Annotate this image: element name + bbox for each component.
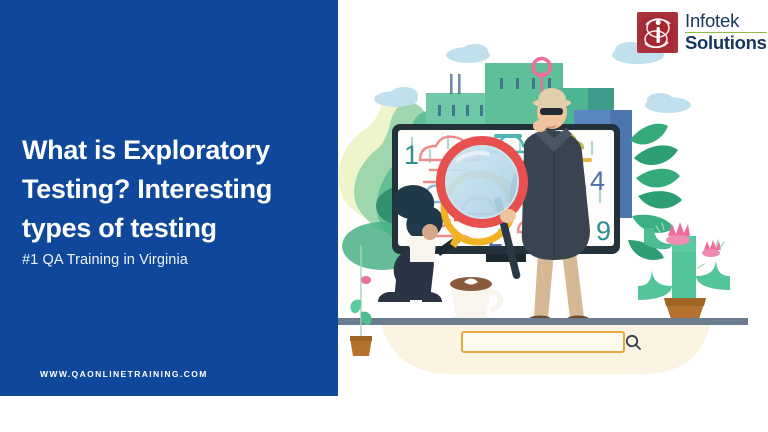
page-title: What is Exploratory Testing? Interesting… [22, 131, 322, 248]
infotek-swirl-i-icon [637, 12, 678, 53]
site-url: WWW.QAONLINETRAINING.COM [40, 369, 208, 379]
search-bar[interactable] [462, 332, 640, 352]
platform-bar [338, 318, 748, 325]
logo-wordmark: Infotek Solutions [685, 12, 767, 52]
page-subtitle: #1 QA Training in Virginia [22, 252, 322, 268]
screen-number: 9 [596, 216, 611, 246]
logo-line-2: Solutions [685, 33, 767, 53]
logo-line-1: Infotek [685, 12, 767, 33]
left-blue-panel: What is Exploratory Testing? Interesting… [0, 0, 338, 396]
footer-bar: For instructor-led training, please call… [0, 396, 768, 432]
brand-logo[interactable]: Infotek Solutions [637, 7, 761, 57]
slide-canvas: 1 5 4 3 2 9 [0, 0, 768, 432]
screen-number: 1 [404, 140, 419, 170]
screen-number: 4 [590, 166, 605, 196]
illustration: 1 5 4 3 2 9 [338, 0, 768, 396]
